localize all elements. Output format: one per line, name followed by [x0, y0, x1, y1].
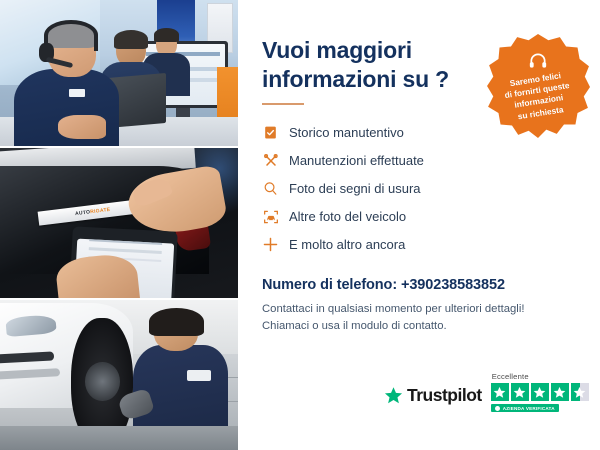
badge-text: Saremo felici di fornirti queste informa…: [493, 68, 583, 125]
list-item[interactable]: Manutenzioni effettuate: [262, 147, 576, 175]
hair: [149, 308, 204, 336]
phone-number-line[interactable]: Numero di telefono: +390238583852: [262, 277, 576, 293]
badge-content: Saremo felici di fornirti queste informa…: [486, 34, 590, 138]
screen-line: [89, 239, 163, 245]
star-filled: [491, 383, 509, 401]
magnifier-icon: [262, 180, 279, 197]
plus-icon: [262, 236, 279, 253]
trustpilot-logo: Trustpilot: [384, 385, 482, 412]
list-item[interactable]: E molto altro ancora: [262, 231, 576, 259]
list-item-label: Foto dei segni di usura: [289, 181, 421, 196]
trustpilot-wordmark: Trustpilot: [407, 385, 482, 406]
list-item-label: Manutenzioni effettuate: [289, 153, 424, 168]
uniform-patch: [187, 370, 212, 381]
request-info-badge: Saremo felici di fornirti queste informa…: [486, 34, 590, 138]
foreground-agent: [14, 26, 119, 146]
verified-badge: AZIENDA VERIFICATA: [491, 404, 559, 412]
tablet-inspection-photo: AUTORIGATE: [0, 148, 238, 298]
car-scan-icon: [262, 208, 279, 225]
trustpilot-widget[interactable]: Trustpilot Eccellente: [384, 372, 589, 412]
garage-floor: [0, 426, 238, 450]
check-icon: [495, 406, 500, 411]
grille: [0, 352, 54, 365]
name-badge: [69, 89, 86, 97]
title-divider: [262, 103, 304, 105]
tools-cross-icon: [262, 152, 279, 169]
sticker-text-1: AUTO: [75, 209, 91, 217]
headset-icon: [527, 51, 549, 71]
list-item-label: Storico manutentivo: [289, 125, 404, 140]
promo-banner: AUTORIGATE: [0, 0, 600, 450]
wheel-rim: [85, 362, 120, 401]
list-item-label: E molto altro ancora: [289, 237, 405, 252]
star-filled: [551, 383, 569, 401]
mechanic-wheel-photo: [0, 300, 238, 450]
contact-line-1: Contattaci in qualsiasi momento per ulte…: [262, 301, 576, 319]
sticker-text-2: RIGATE: [90, 207, 111, 215]
arm: [58, 115, 106, 139]
trustpilot-star-icon: [384, 386, 403, 405]
verified-label: AZIENDA VERIFICATA: [503, 406, 555, 411]
list-item-label: Altre foto del veicolo: [289, 209, 406, 224]
contact-line-2: Chiamaci o usa il modulo di contatto.: [262, 318, 576, 336]
trustpilot-rating: Eccellente: [491, 372, 589, 412]
list-item[interactable]: Foto dei segni di usura: [262, 175, 576, 203]
screen-line: [89, 247, 163, 253]
content-panel: Vuoi maggiori informazioni su ? Storico …: [238, 0, 600, 450]
contact-description: Contattaci in qualsiasi momento per ulte…: [262, 301, 576, 336]
star-filled: [531, 383, 549, 401]
call-center-agents-photo: [0, 0, 238, 146]
bumper: [0, 368, 60, 380]
page-title: Vuoi maggiori informazioni su ?: [262, 36, 472, 95]
headlight: [6, 313, 58, 336]
clipboard-check-icon: [262, 124, 279, 141]
star-rating: [491, 383, 589, 401]
rating-label: Eccellente: [492, 372, 529, 381]
star-half: [571, 383, 589, 401]
feature-list: Storico manutentivo Manutenzioni effettu…: [262, 119, 576, 259]
list-item[interactable]: Altre foto del veicolo: [262, 203, 576, 231]
star-filled: [511, 383, 529, 401]
photo-column: AUTORIGATE: [0, 0, 238, 450]
